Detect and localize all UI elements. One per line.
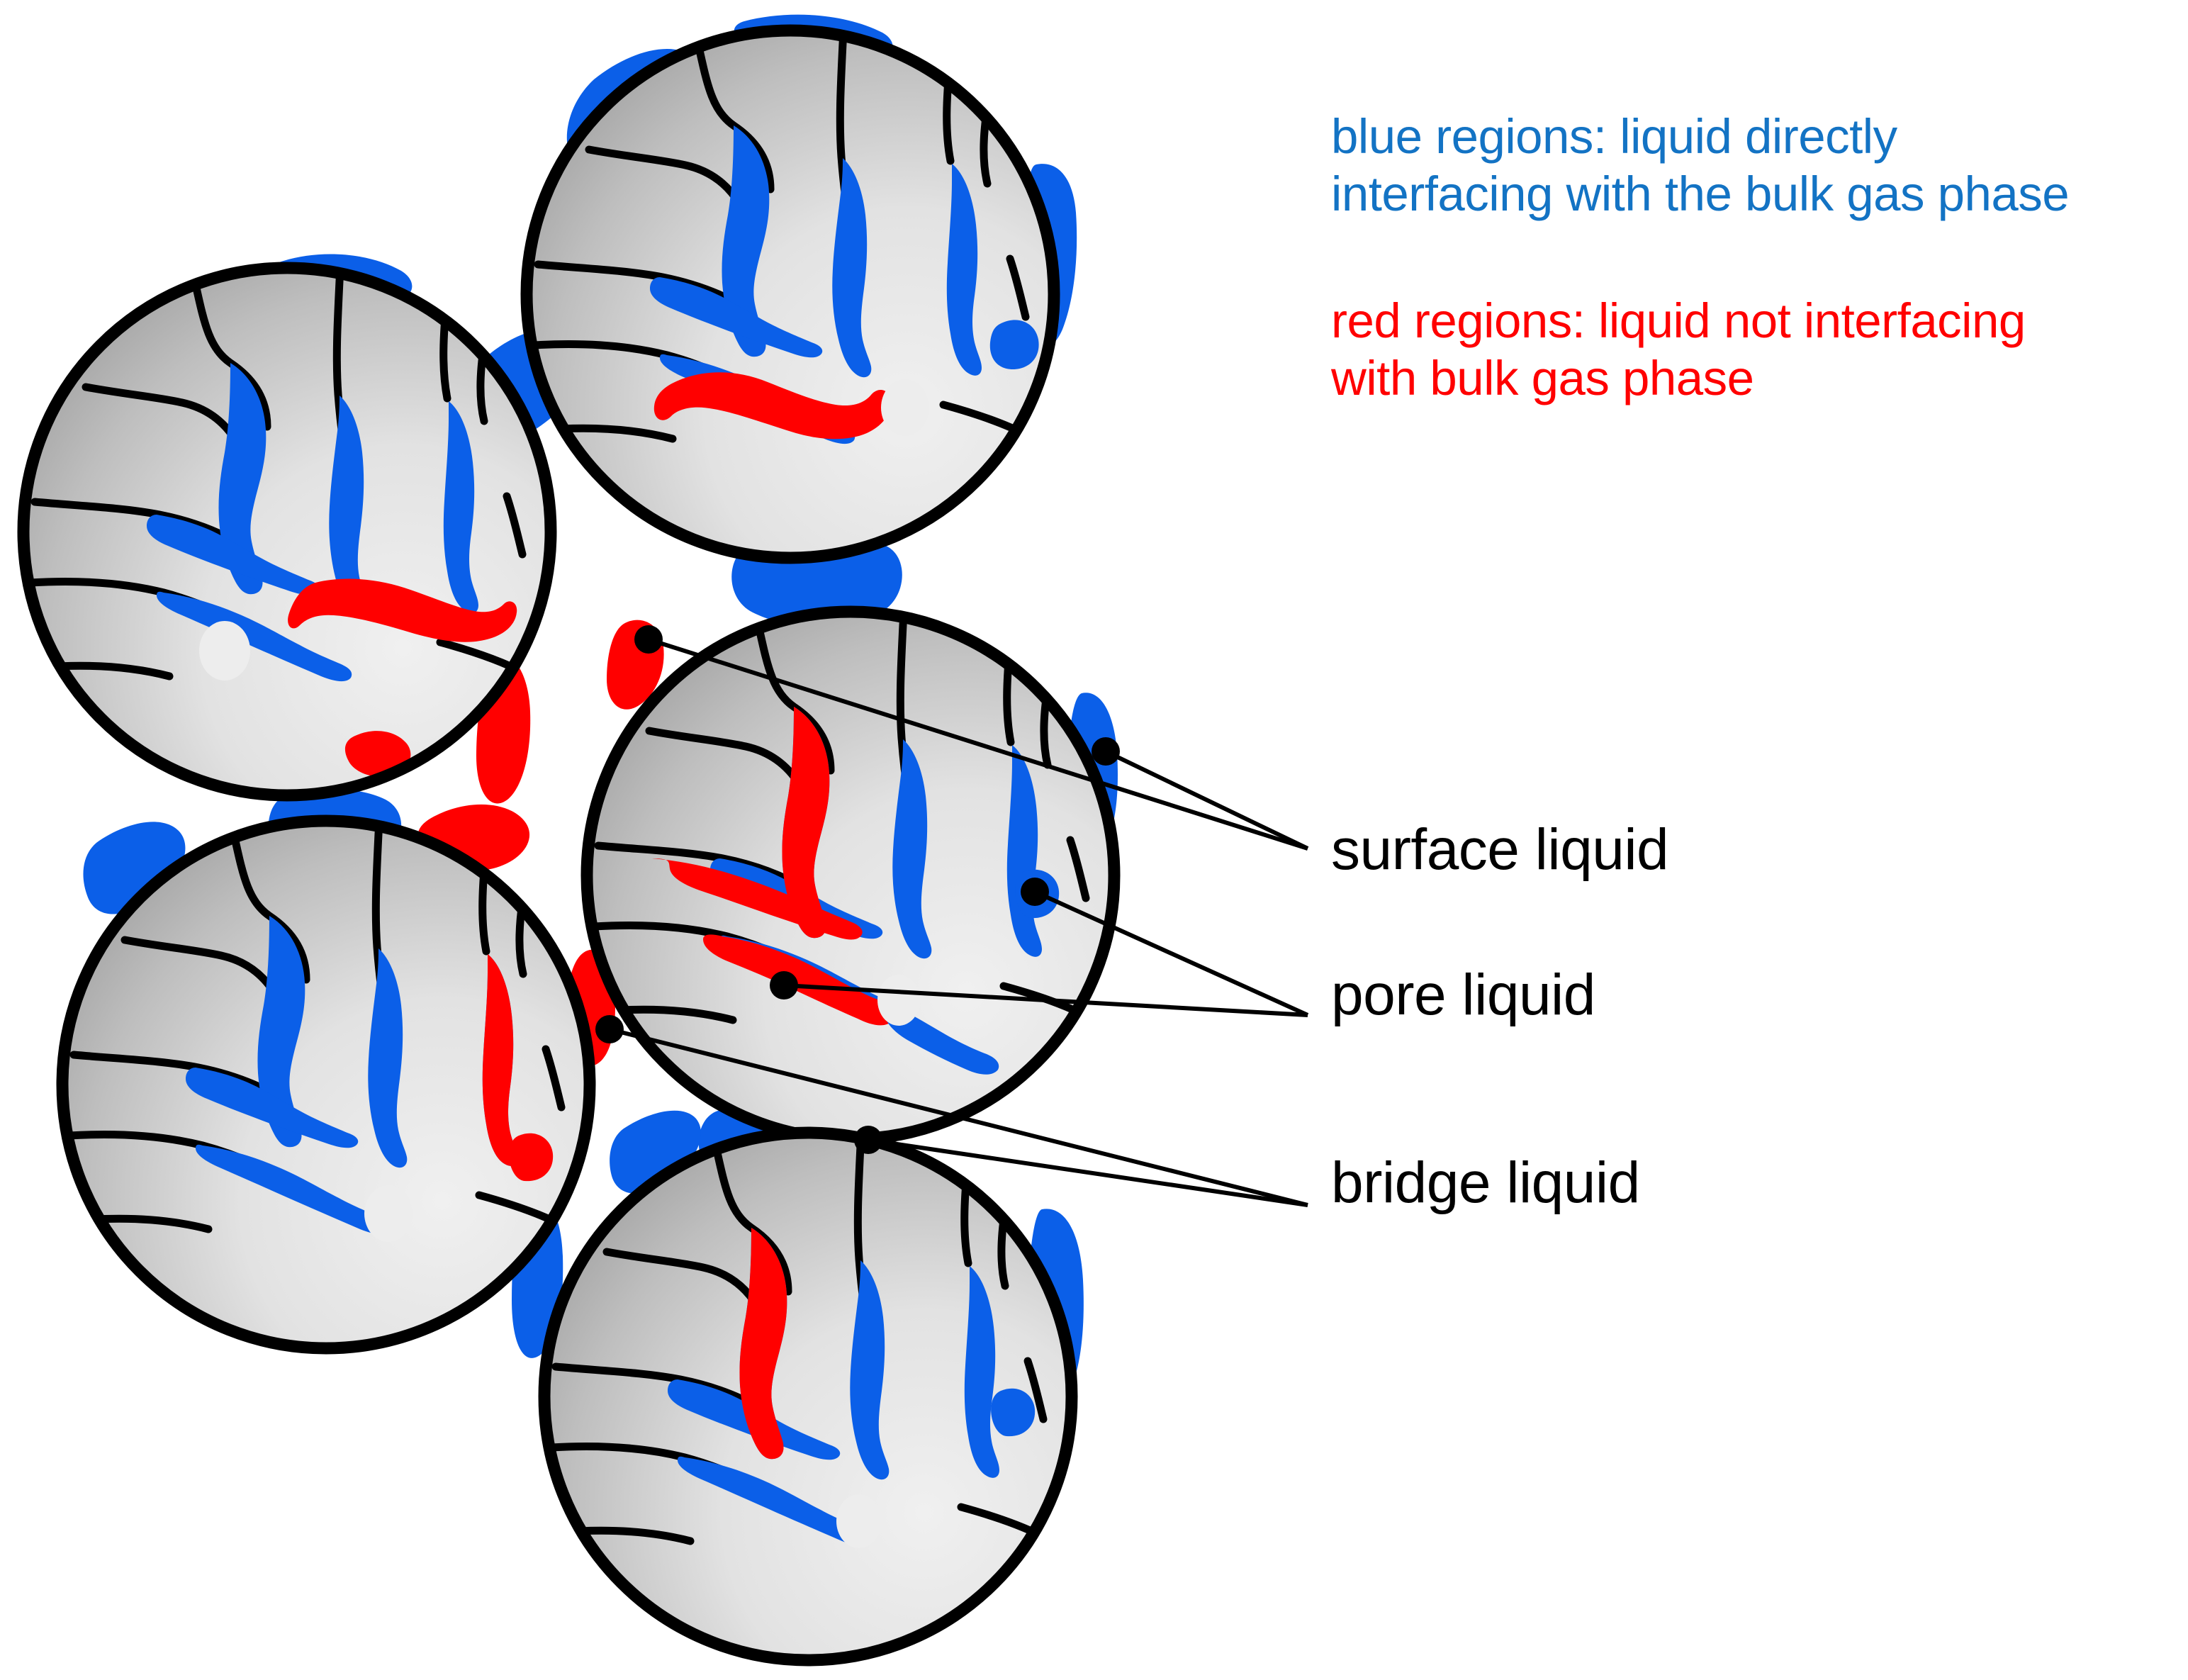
- marker-pore-a: [1021, 878, 1049, 906]
- legend-blue-line-1: blue regions: liquid directly: [1331, 108, 2069, 165]
- legend-blue-line-2: interfacing with the bulk gas phase: [1331, 165, 2069, 223]
- particle-top: [527, 29, 1054, 558]
- particle-agglomerate-diagram: [0, 0, 2188, 1680]
- marker-bridge-a: [595, 1015, 624, 1043]
- legend-red-line-2: with bulk gas phase: [1331, 349, 2026, 407]
- legend-blue-regions: blue regions: liquid directly interfacin…: [1331, 108, 2069, 223]
- callout-label-pore-liquid: pore liquid: [1331, 964, 1595, 1026]
- particle-left: [23, 267, 551, 795]
- marker-surface-a: [634, 625, 663, 654]
- marker-surface-b: [1092, 737, 1120, 766]
- particle-bottom-left: [62, 819, 590, 1348]
- particle-center: [587, 610, 1114, 1139]
- marker-bridge-b: [854, 1126, 882, 1154]
- figure-canvas: blue regions: liquid directly interfacin…: [0, 0, 2188, 1680]
- marker-pore-b: [770, 971, 798, 999]
- particle-bottom: [544, 1131, 1072, 1660]
- legend-red-line-1: red regions: liquid not interfacing: [1331, 292, 2026, 349]
- callout-label-bridge-liquid: bridge liquid: [1331, 1152, 1640, 1214]
- legend-red-regions: red regions: liquid not interfacing with…: [1331, 292, 2026, 407]
- callout-label-surface-liquid: surface liquid: [1331, 819, 1668, 881]
